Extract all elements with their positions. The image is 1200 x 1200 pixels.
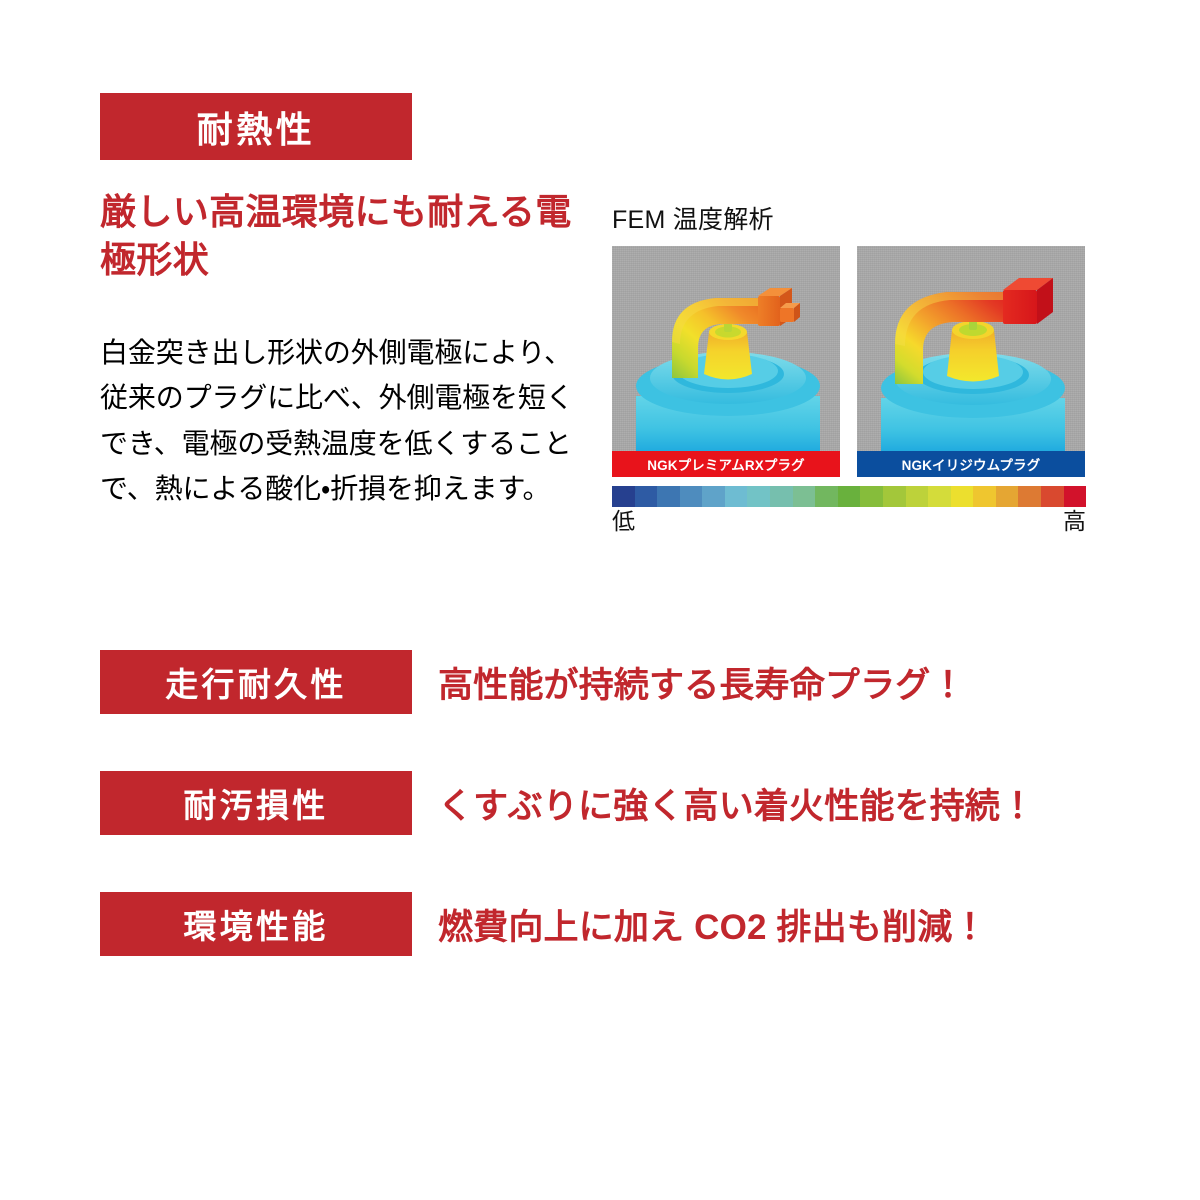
spark-plug-thermal-render-rx bbox=[612, 246, 840, 451]
colorbar-band-7 bbox=[770, 486, 793, 507]
feature-text-environmental: 燃費向上に加え CO2 排出も削減！ bbox=[438, 899, 988, 950]
fem-panel-premium-rx: NGKプレミアムRXプラグ bbox=[612, 246, 840, 477]
feature-row-durability: 走行耐久性 高性能が持続する長寿命プラグ！ bbox=[100, 650, 1100, 714]
heat-description-paragraph: 白金突き出し形状の外側電極により、従来のプラグに比べ、外側電極を短くでき、電極の… bbox=[100, 330, 590, 511]
colorbar-band-11 bbox=[860, 486, 883, 507]
colorbar-band-4 bbox=[702, 486, 725, 507]
feature-text-durability: 高性能が持続する長寿命プラグ！ bbox=[438, 657, 966, 708]
colorbar-band-16 bbox=[973, 486, 996, 507]
colorbar-band-18 bbox=[1018, 486, 1041, 507]
spark-plug-thermal-render-iridium bbox=[857, 246, 1085, 451]
fem-panel-iridium: NGKイリジウムプラグ bbox=[857, 246, 1085, 477]
feature-row-fouling-resistance: 耐汚損性 くすぶりに強く高い着火性能を持続！ bbox=[100, 771, 1100, 835]
colorbar-band-19 bbox=[1041, 486, 1064, 507]
colorbar-band-8 bbox=[793, 486, 816, 507]
temperature-scale: 低 高 bbox=[612, 486, 1086, 534]
colorbar-band-2 bbox=[657, 486, 680, 507]
colorbar-band-13 bbox=[906, 486, 929, 507]
fem-panel-group: NGKプレミアムRXプラグ bbox=[612, 246, 1086, 477]
section-badge-heat-resistance: 耐熱性 bbox=[100, 93, 412, 160]
scale-low-label: 低 bbox=[612, 509, 635, 534]
fem-analysis-title: FEM 温度解析 bbox=[612, 200, 1086, 236]
fem-caption-premium-rx: NGKプレミアムRXプラグ bbox=[612, 451, 840, 477]
heat-headline: 厳しい高温環境にも耐える電極形状 bbox=[100, 188, 580, 283]
colorbar-band-5 bbox=[725, 486, 748, 507]
colorbar-band-0 bbox=[612, 486, 635, 507]
fem-image-iridium bbox=[857, 246, 1085, 451]
fem-caption-iridium: NGKイリジウムプラグ bbox=[857, 451, 1085, 477]
fem-analysis-block: FEM 温度解析 bbox=[612, 200, 1086, 534]
temperature-colorbar bbox=[612, 486, 1086, 507]
colorbar-band-15 bbox=[951, 486, 974, 507]
feature-badge-fouling-resistance: 耐汚損性 bbox=[100, 771, 412, 835]
colorbar-band-12 bbox=[883, 486, 906, 507]
scale-high-label: 高 bbox=[1063, 509, 1086, 534]
feature-badge-durability: 走行耐久性 bbox=[100, 650, 412, 714]
colorbar-band-14 bbox=[928, 486, 951, 507]
colorbar-band-1 bbox=[635, 486, 658, 507]
colorbar-band-10 bbox=[838, 486, 861, 507]
feature-row-environmental: 環境性能 燃費向上に加え CO2 排出も削減！ bbox=[100, 892, 1100, 956]
feature-text-fouling-resistance: くすぶりに強く高い着火性能を持続！ bbox=[438, 778, 1035, 829]
heat-headline-wrap: 厳しい高温環境にも耐える電極形状 bbox=[100, 188, 580, 283]
feature-row-list: 走行耐久性 高性能が持続する長寿命プラグ！ 耐汚損性 くすぶりに強く高い着火性能… bbox=[100, 650, 1100, 1013]
colorbar-band-17 bbox=[996, 486, 1019, 507]
feature-badge-environmental: 環境性能 bbox=[100, 892, 412, 956]
colorbar-band-3 bbox=[680, 486, 703, 507]
colorbar-band-9 bbox=[815, 486, 838, 507]
colorbar-band-6 bbox=[747, 486, 770, 507]
fem-image-premium-rx bbox=[612, 246, 840, 451]
temperature-scale-labels: 低 高 bbox=[612, 509, 1086, 534]
colorbar-band-20 bbox=[1064, 486, 1087, 507]
